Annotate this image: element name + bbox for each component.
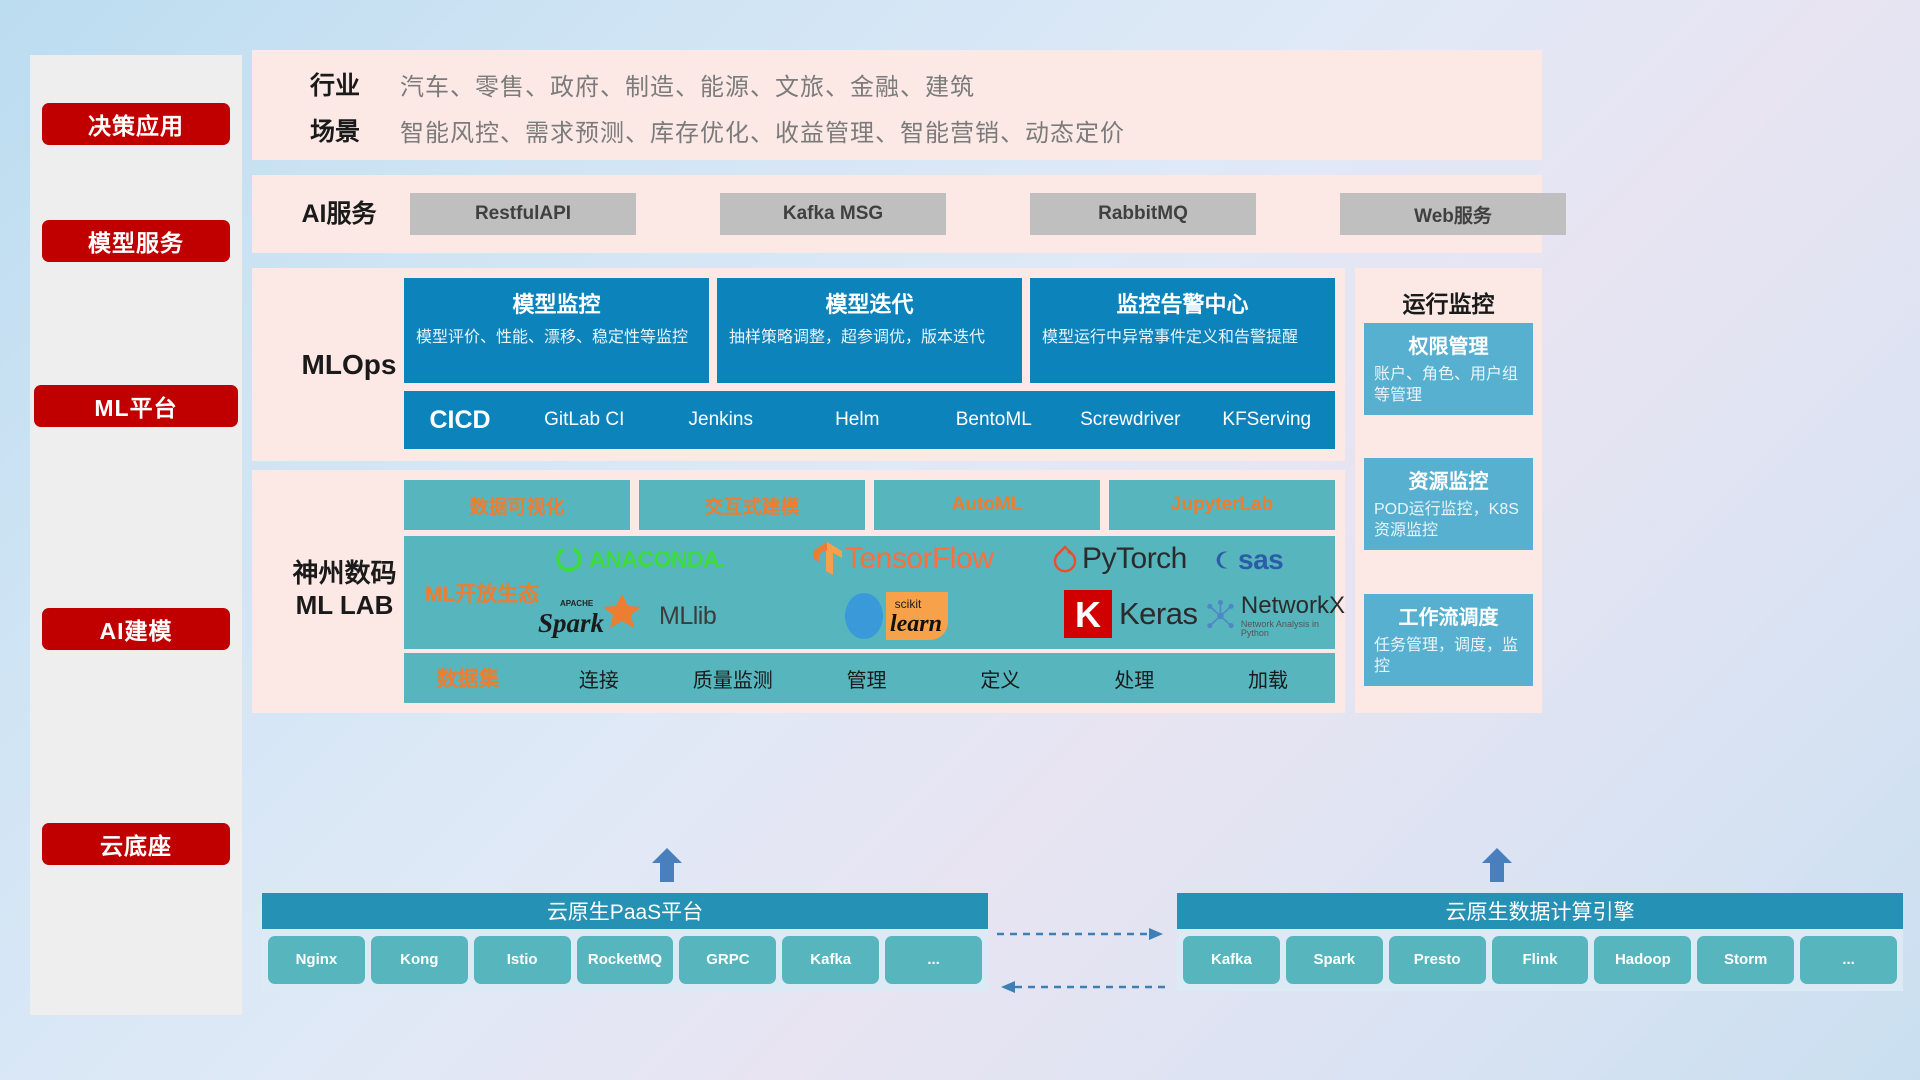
card-desc: 账户、角色、用户组等管理 [1374,364,1523,407]
dataset-item-connect[interactable]: 连接 [532,664,666,693]
cloud-paas-group: 云原生PaaS平台 Nginx Kong Istio RocketMQ GRPC… [262,893,988,991]
cloud-paas-title: 云原生PaaS平台 [262,893,988,929]
industry-label: 行业 [270,66,400,102]
cloud-chip-spark[interactable]: Spark [1286,936,1383,984]
scenario-label: 场景 [270,112,400,148]
service-box-restfulapi[interactable]: RestfulAPI [410,193,636,235]
cloud-chip-istio[interactable]: Istio [474,936,571,984]
svg-text:Spark: Spark [538,608,605,638]
card-desc: 模型运行中异常事件定义和告警提醒 [1042,327,1323,349]
dataset-item-process[interactable]: 处理 [1067,664,1201,693]
svg-text:scikit: scikit [895,597,922,611]
scikit-learn-logo: scikit learn [840,588,980,644]
monitor-card-workflow[interactable]: 工作流调度 任务管理，调度，监控 [1364,594,1533,686]
tab-automl[interactable]: AutoML [874,480,1100,530]
cloud-paas-chips: Nginx Kong Istio RocketMQ GRPC Kafka ... [262,929,988,991]
ml-lab-band: 神州数码 ML LAB 数据可视化 交互式建模 AutoML JupyterLa… [252,470,1345,713]
svg-text:K: K [1075,594,1101,635]
cicd-item-gitlab-ci[interactable]: GitLab CI [516,410,653,430]
service-box-web-service[interactable]: Web服务 [1340,193,1566,235]
cloud-chip-grpc[interactable]: GRPC [679,936,776,984]
card-desc: 抽样策略调整，超参调优，版本迭代 [729,327,1010,349]
keras-logo: K Keras [1064,590,1197,638]
ml-lab-label: 神州数码 ML LAB [262,558,427,621]
monitor-card-permission[interactable]: 权限管理 账户、角色、用户组等管理 [1364,323,1533,415]
scenario-value: 智能风控、需求预测、库存优化、收益管理、智能营销、动态定价 [400,113,1125,148]
cicd-item-kfserving[interactable]: KFServing [1199,410,1336,430]
cloud-chip-more-de[interactable]: ... [1800,936,1897,984]
mlops-card-alert-center[interactable]: 监控告警中心 模型运行中异常事件定义和告警提醒 [1030,278,1335,383]
runtime-monitoring-panel: 运行监控 权限管理 账户、角色、用户组等管理 资源监控 POD运行监控，K8S资… [1355,268,1542,713]
ai-service-band: AI服务 RestfulAPI Kafka MSG RabbitMQ Web服务 [252,175,1542,253]
dataset-item-quality[interactable]: 质量监测 [666,664,800,693]
rail-item-ml-platform[interactable]: ML平台 [34,385,238,427]
application-layer-band: 行业 汽车、零售、政府、制造、能源、文旅、金融、建筑 场景 智能风控、需求预测、… [252,50,1542,160]
cloud-chip-kafka-de[interactable]: Kafka [1183,936,1280,984]
cicd-item-bentoml[interactable]: BentoML [926,410,1063,430]
cloud-chip-rocketmq[interactable]: RocketMQ [577,936,674,984]
anaconda-logo: ANACONDA . [554,544,726,574]
cloud-data-engine-chips: Kafka Spark Presto Flink Hadoop Storm ..… [1177,929,1903,991]
card-title: 权限管理 [1374,330,1523,359]
card-desc: POD运行监控，K8S资源监控 [1374,499,1523,542]
card-title: 资源监控 [1374,465,1523,494]
scenario-line: 场景 智能风控、需求预测、库存优化、收益管理、智能营销、动态定价 [270,112,1125,148]
mlops-band: MLOps 模型监控 模型评价、性能、漂移、稳定性等监控 模型迭代 抽样策略调整… [252,268,1345,461]
cicd-label: CICD [404,406,516,435]
ai-service-label: AI服务 [274,199,404,230]
service-box-kafka-msg[interactable]: Kafka MSG [720,193,946,235]
arrow-right-dashed [997,927,1167,946]
card-title: 模型迭代 [729,287,1010,319]
cloud-chip-presto[interactable]: Presto [1389,936,1486,984]
cicd-item-jenkins[interactable]: Jenkins [653,410,790,430]
rail-item-ai-modeling[interactable]: AI建模 [42,608,230,650]
runtime-monitoring-title: 运行监控 [1355,268,1542,319]
card-title: 模型监控 [416,287,697,319]
spark-mllib-logo: APACHE Spark MLlib [536,592,716,640]
dataset-item-manage[interactable]: 管理 [800,664,934,693]
card-desc: 模型评价、性能、漂移、稳定性等监控 [416,327,697,349]
cloud-chip-kong[interactable]: Kong [371,936,468,984]
industry-line: 行业 汽车、零售、政府、制造、能源、文旅、金融、建筑 [270,66,975,102]
cloud-chip-nginx[interactable]: Nginx [268,936,365,984]
dataset-item-define[interactable]: 定义 [933,664,1067,693]
cicd-bar: CICD GitLab CI Jenkins Helm BentoML Scre… [404,391,1335,449]
cloud-chip-hadoop[interactable]: Hadoop [1594,936,1691,984]
ml-open-ecosystem-label: ML开放生态 [418,578,546,608]
mlops-card-model-iteration[interactable]: 模型迭代 抽样策略调整，超参调优，版本迭代 [717,278,1022,383]
cloud-chip-more[interactable]: ... [885,936,982,984]
dataset-label: 数据集 [404,663,532,693]
pytorch-logo: PyTorch [1052,542,1187,576]
cloud-data-engine-title: 云原生数据计算引擎 [1177,893,1903,929]
cloud-data-engine-group: 云原生数据计算引擎 Kafka Spark Presto Flink Hadoo… [1177,893,1903,991]
tensorflow-logo: TensorFlow [811,541,993,577]
tab-interactive-modeling[interactable]: 交互式建模 [639,480,865,530]
ml-open-ecosystem-box: ML开放生态 ANACONDA . TensorFlow [404,536,1335,649]
tab-data-visualization[interactable]: 数据可视化 [404,480,630,530]
card-desc: 任务管理，调度，监控 [1374,635,1523,678]
tab-jupyterlab[interactable]: JupyterLab [1109,480,1335,530]
dataset-bar: 数据集 连接 质量监测 管理 定义 处理 加载 [404,653,1335,703]
cloud-chip-flink[interactable]: Flink [1492,936,1589,984]
layer-rail: 决策应用 模型服务 ML平台 AI建模 云底座 [30,55,242,1015]
monitor-card-resource[interactable]: 资源监控 POD运行监控，K8S资源监控 [1364,458,1533,550]
cicd-item-screwdriver[interactable]: Screwdriver [1062,410,1199,430]
dataset-item-load[interactable]: 加载 [1201,664,1335,693]
sas-logo: sas [1209,544,1283,576]
arrow-up-paas [650,848,684,882]
industry-value: 汽车、零售、政府、制造、能源、文旅、金融、建筑 [400,67,975,102]
mlops-label: MLOps [274,348,424,382]
cloud-chip-storm[interactable]: Storm [1697,936,1794,984]
networkx-logo: NetworkX Network Analysis in Python [1204,594,1346,638]
rail-item-decision-app[interactable]: 决策应用 [42,103,230,145]
rail-item-cloud-base[interactable]: 云底座 [42,823,230,865]
mlops-card-model-monitoring[interactable]: 模型监控 模型评价、性能、漂移、稳定性等监控 [404,278,709,383]
cicd-item-helm[interactable]: Helm [789,410,926,430]
cloud-chip-kafka[interactable]: Kafka [782,936,879,984]
arrow-up-data-engine [1480,848,1514,882]
svg-text:learn: learn [890,611,942,637]
svg-text:APACHE: APACHE [560,599,594,608]
service-box-rabbitmq[interactable]: RabbitMQ [1030,193,1256,235]
rail-item-model-service[interactable]: 模型服务 [42,220,230,262]
arrow-left-dashed [997,980,1167,999]
card-title: 监控告警中心 [1042,287,1323,319]
card-title: 工作流调度 [1374,601,1523,630]
